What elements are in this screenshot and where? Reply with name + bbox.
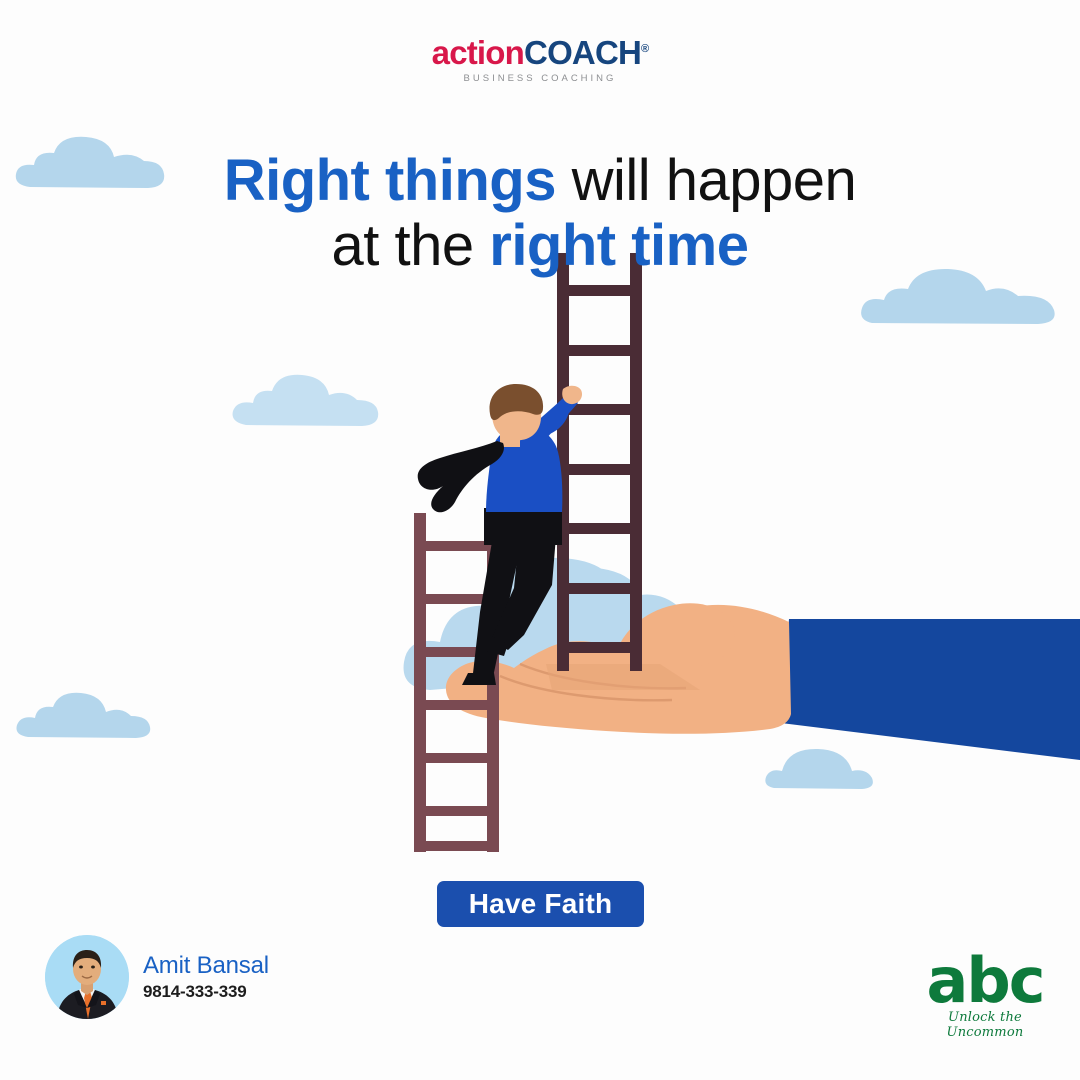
- registered-mark-icon: ®: [641, 43, 648, 55]
- coach-details: Amit Bansal 9814-333-339: [143, 952, 269, 1001]
- headline-plain-2: at the: [332, 213, 490, 278]
- man-hand: [562, 386, 582, 404]
- brand-logo: actionCOACH® BUSINESS COACHING: [0, 36, 1080, 84]
- headline-emphasis-1: Right things: [224, 148, 556, 213]
- coach-name: Amit Bansal: [143, 952, 269, 980]
- abc-wordmark: abc: [915, 955, 1055, 1008]
- page-title: Right things will happen at the right ti…: [0, 149, 1080, 279]
- brand-tagline: BUSINESS COACHING: [0, 74, 1080, 84]
- headline-line-1: Right things will happen: [0, 149, 1080, 214]
- coach-contact-card[interactable]: Amit Bansal 9814-333-339: [45, 935, 269, 1019]
- man-shoe-back: [462, 673, 496, 685]
- hand-sleeve: [781, 619, 1080, 760]
- headline-plain-1: will happen: [556, 148, 856, 213]
- poster-canvas: actionCOACH® BUSINESS COACHING Right thi…: [0, 0, 1080, 1080]
- headline-line-2: at the right time: [0, 214, 1080, 279]
- abc-partner-logo: abc Unlock the Uncommon: [915, 955, 1055, 1040]
- headline-emphasis-2: right time: [489, 213, 748, 278]
- brand-wordmark-coach: COACH: [524, 34, 641, 71]
- have-faith-button[interactable]: Have Faith: [437, 881, 644, 927]
- man-hips: [484, 508, 562, 545]
- coach-phone[interactable]: 9814-333-339: [143, 982, 269, 1002]
- avatar: [45, 935, 129, 1019]
- brand-wordmark: actionCOACH®: [0, 36, 1080, 69]
- brand-wordmark-action: action: [432, 34, 524, 71]
